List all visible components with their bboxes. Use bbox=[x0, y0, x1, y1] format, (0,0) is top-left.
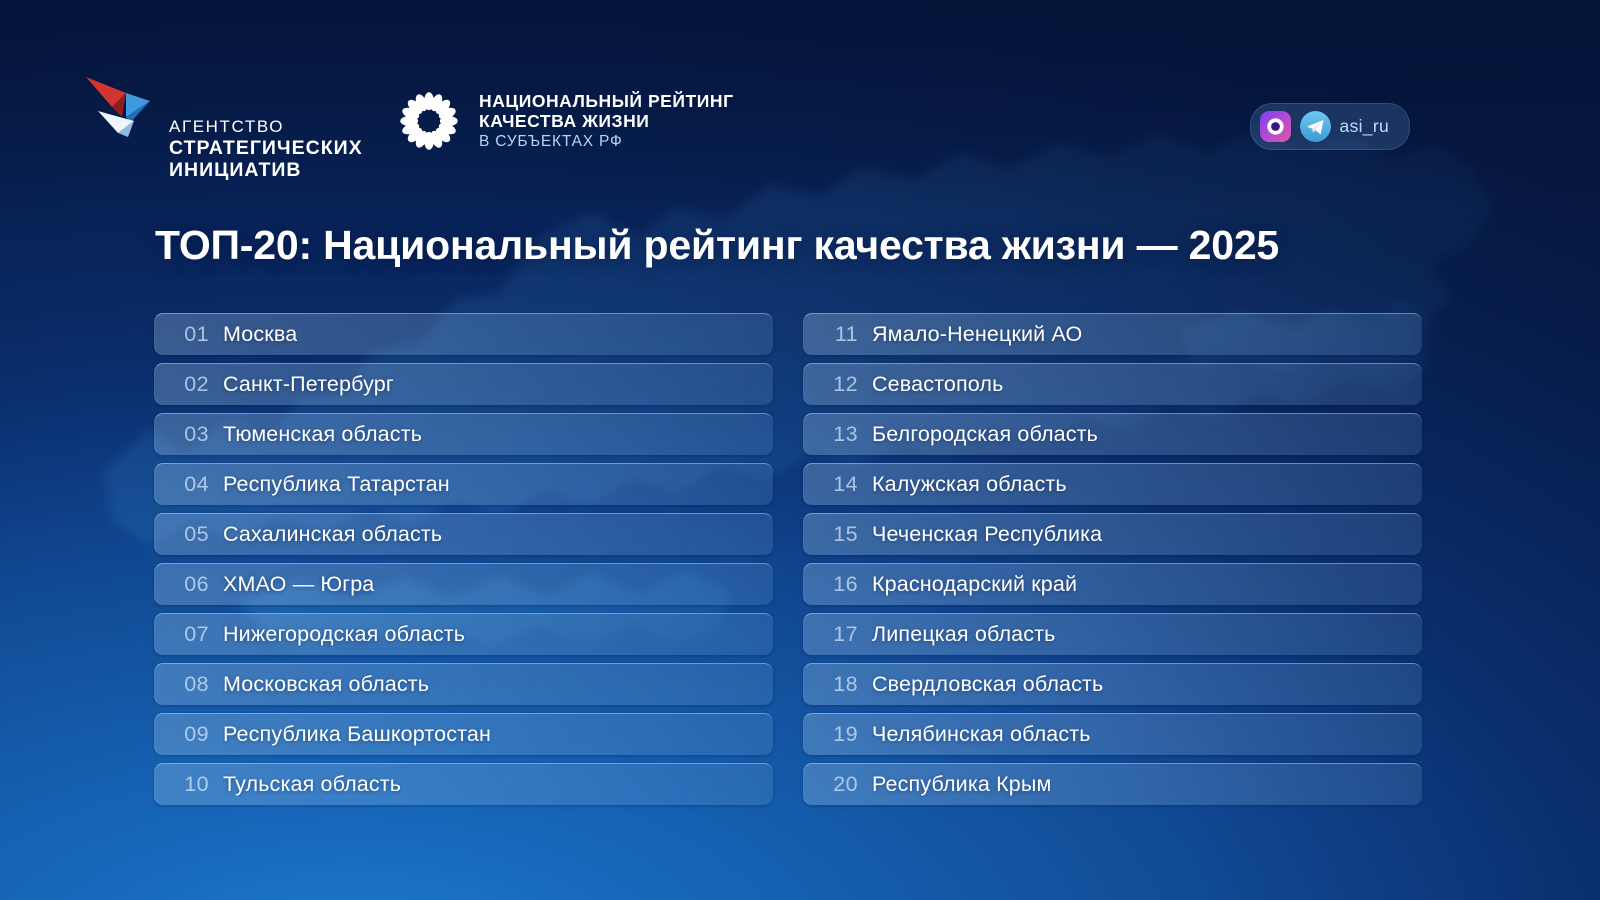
rating-line-2: КАЧЕСТВА ЖИЗНИ bbox=[479, 111, 734, 131]
telegram-icon[interactable] bbox=[1300, 111, 1331, 142]
rank-number: 09 bbox=[155, 722, 223, 747]
asi-line-2: СТРАТЕГИЧЕСКИХ bbox=[169, 137, 363, 160]
rank-number: 03 bbox=[155, 422, 223, 447]
region-name: Сахалинская область bbox=[223, 522, 442, 547]
max-messenger-icon[interactable] bbox=[1260, 111, 1291, 142]
asi-line-1: АГЕНТСТВО bbox=[169, 117, 363, 137]
rank-number: 04 bbox=[155, 472, 223, 497]
ranking-row[interactable]: 09Республика Башкортостан bbox=[154, 713, 773, 755]
flower-mandala-icon bbox=[396, 88, 462, 154]
rank-number: 11 bbox=[804, 322, 872, 347]
rank-number: 16 bbox=[804, 572, 872, 597]
rank-number: 06 bbox=[155, 572, 223, 597]
rank-number: 14 bbox=[804, 472, 872, 497]
rank-number: 02 bbox=[155, 372, 223, 397]
asi-logo[interactable]: АГЕНТСТВО СТРАТЕГИЧЕСКИХ ИНИЦИАТИВ bbox=[78, 68, 363, 182]
region-name: Тульская область bbox=[223, 772, 401, 797]
ranking-row[interactable]: 17Липецкая область bbox=[803, 613, 1422, 655]
ranking-row[interactable]: 06ХМАО — Югра bbox=[154, 563, 773, 605]
rank-number: 08 bbox=[155, 672, 223, 697]
region-name: Краснодарский край bbox=[872, 572, 1077, 597]
region-name: Республика Татарстан bbox=[223, 472, 450, 497]
rank-number: 07 bbox=[155, 622, 223, 647]
region-name: ХМАО — Югра bbox=[223, 572, 374, 597]
ranking-row[interactable]: 13Белгородская область bbox=[803, 413, 1422, 455]
ranking-row[interactable]: 11Ямало-Ненецкий АО bbox=[803, 313, 1422, 355]
ranking-row[interactable]: 02Санкт-Петербург bbox=[154, 363, 773, 405]
ranking-row[interactable]: 15Чеченская Республика bbox=[803, 513, 1422, 555]
region-name: Тюменская область bbox=[223, 422, 422, 447]
region-name: Республика Башкортостан bbox=[223, 722, 491, 747]
rank-number: 10 bbox=[155, 772, 223, 797]
asi-logo-text: АГЕНТСТВО СТРАТЕГИЧЕСКИХ ИНИЦИАТИВ bbox=[169, 68, 363, 182]
national-rating-logo[interactable]: НАЦИОНАЛЬНЫЙ РЕЙТИНГ КАЧЕСТВА ЖИЗНИ В СУ… bbox=[396, 88, 734, 154]
rank-number: 18 bbox=[804, 672, 872, 697]
ranking-row[interactable]: 01Москва bbox=[154, 313, 773, 355]
region-name: Свердловская область bbox=[872, 672, 1103, 697]
asi-arrow-logo-icon bbox=[78, 71, 156, 141]
region-name: Липецкая область bbox=[872, 622, 1056, 647]
social-handle[interactable]: asi_ru bbox=[1340, 116, 1389, 137]
rank-number: 15 bbox=[804, 522, 872, 547]
rank-number: 12 bbox=[804, 372, 872, 397]
ranking-row[interactable]: 12Севастополь bbox=[803, 363, 1422, 405]
region-name: Санкт-Петербург bbox=[223, 372, 394, 397]
rank-number: 01 bbox=[155, 322, 223, 347]
rank-number: 19 bbox=[804, 722, 872, 747]
ranking-row[interactable]: 16Краснодарский край bbox=[803, 563, 1422, 605]
ranking-row[interactable]: 03Тюменская область bbox=[154, 413, 773, 455]
region-name: Калужская область bbox=[872, 472, 1067, 497]
region-name: Чеченская Республика bbox=[872, 522, 1102, 547]
rank-number: 05 bbox=[155, 522, 223, 547]
region-name: Республика Крым bbox=[872, 772, 1051, 797]
ranking-board: 01Москва02Санкт-Петербург03Тюменская обл… bbox=[154, 313, 1422, 805]
social-badge[interactable]: asi_ru bbox=[1250, 103, 1410, 150]
ranking-row[interactable]: 08Московская область bbox=[154, 663, 773, 705]
region-name: Москва bbox=[223, 322, 297, 347]
rating-line-1: НАЦИОНАЛЬНЫЙ РЕЙТИНГ bbox=[479, 91, 734, 111]
ranking-column-right: 11Ямало-Ненецкий АО12Севастополь13Белгор… bbox=[803, 313, 1422, 805]
ranking-row[interactable]: 20Республика Крым bbox=[803, 763, 1422, 805]
ranking-row[interactable]: 04Республика Татарстан bbox=[154, 463, 773, 505]
region-name: Нижегородская область bbox=[223, 622, 465, 647]
national-rating-logo-text: НАЦИОНАЛЬНЫЙ РЕЙТИНГ КАЧЕСТВА ЖИЗНИ В СУ… bbox=[479, 91, 734, 151]
rating-line-3: В СУБЪЕКТАХ РФ bbox=[479, 133, 734, 151]
asi-line-3: ИНИЦИАТИВ bbox=[169, 159, 363, 182]
ranking-row[interactable]: 10Тульская область bbox=[154, 763, 773, 805]
ranking-row[interactable]: 07Нижегородская область bbox=[154, 613, 773, 655]
ranking-row[interactable]: 05Сахалинская область bbox=[154, 513, 773, 555]
ranking-row[interactable]: 18Свердловская область bbox=[803, 663, 1422, 705]
ranking-row[interactable]: 19Челябинская область bbox=[803, 713, 1422, 755]
region-name: Челябинская область bbox=[872, 722, 1091, 747]
region-name: Белгородская область bbox=[872, 422, 1098, 447]
ranking-row[interactable]: 14Калужская область bbox=[803, 463, 1422, 505]
ranking-column-left: 01Москва02Санкт-Петербург03Тюменская обл… bbox=[154, 313, 773, 805]
region-name: Ямало-Ненецкий АО bbox=[872, 322, 1082, 347]
rank-number: 20 bbox=[804, 772, 872, 797]
page-title: ТОП-20: Национальный рейтинг качества жи… bbox=[155, 222, 1475, 269]
region-name: Московская область bbox=[223, 672, 429, 697]
rank-number: 17 bbox=[804, 622, 872, 647]
header: АГЕНТСТВО СТРАТЕГИЧЕСКИХ ИНИЦИАТИВ bbox=[0, 0, 1600, 200]
infographic-slide: АГЕНТСТВО СТРАТЕГИЧЕСКИХ ИНИЦИАТИВ bbox=[0, 0, 1600, 900]
region-name: Севастополь bbox=[872, 372, 1003, 397]
rank-number: 13 bbox=[804, 422, 872, 447]
